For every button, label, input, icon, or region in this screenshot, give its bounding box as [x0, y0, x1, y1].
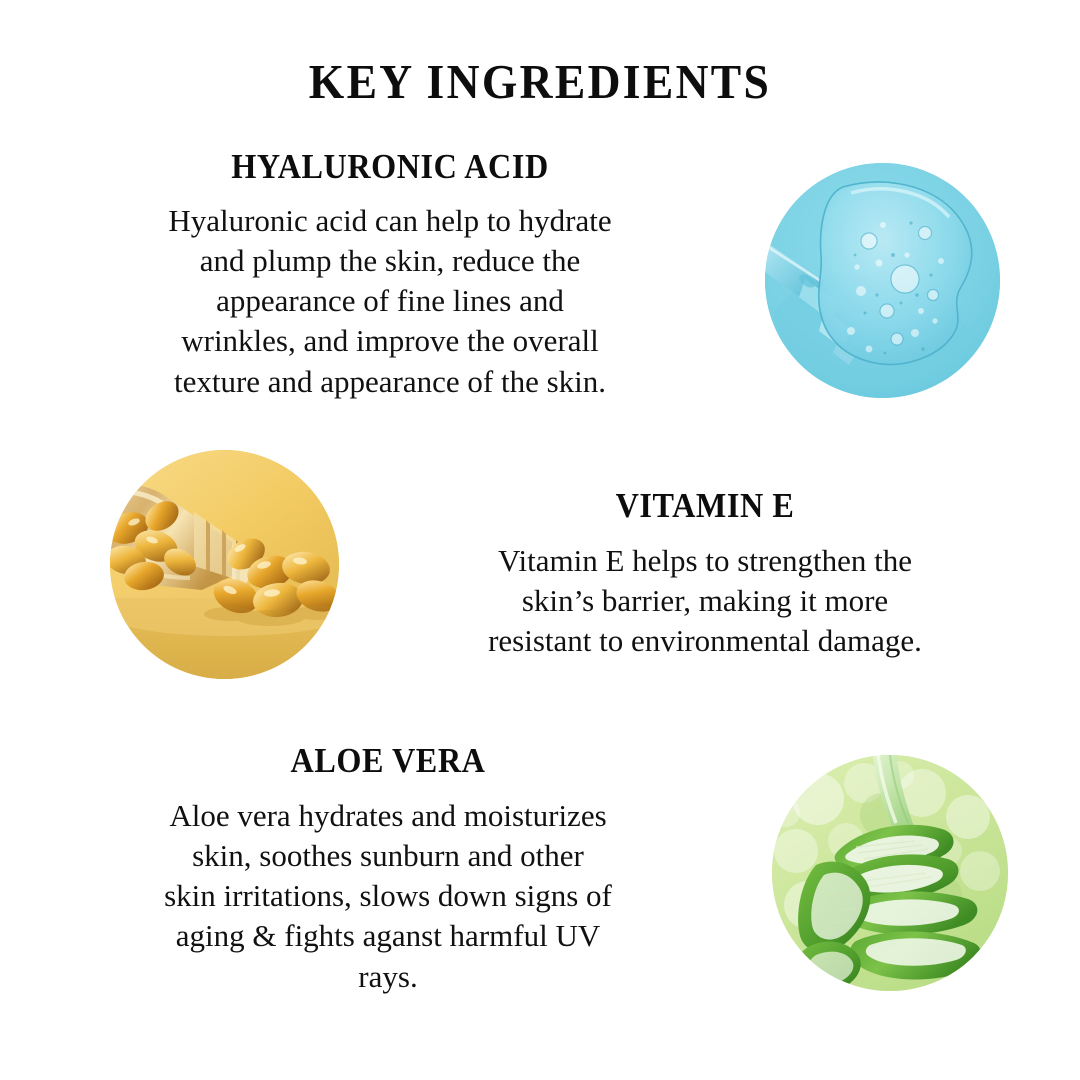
- ingredient-section-aloe-vera: ALOE VERA Aloe vera hydrates and moistur…: [58, 742, 718, 997]
- key-ingredients-infographic: KEY INGREDIENTS HYALURONIC ACID Hyaluron…: [0, 0, 1080, 1080]
- ingredient-section-vitamin-e: VITAMIN E Vitamin E helps to strengthen …: [390, 487, 1020, 661]
- ingredient-description-aloe-vera: Aloe vera hydrates and moisturizes skin,…: [58, 796, 718, 997]
- ingredient-description-hyaluronic-acid: Hyaluronic acid can help to hydrate and …: [60, 201, 720, 402]
- vitamin-e-capsules-photo: [110, 450, 339, 679]
- hyaluronic-acid-gel-photo: [765, 163, 1000, 398]
- ingredient-section-hyaluronic-acid: HYALURONIC ACID Hyaluronic acid can help…: [60, 148, 720, 402]
- page-title: KEY INGREDIENTS: [38, 56, 1042, 107]
- ingredient-heading-hyaluronic-acid: HYALURONIC ACID: [86, 148, 693, 187]
- aloe-vera-slices-photo: [772, 755, 1008, 991]
- ingredient-heading-vitamin-e: VITAMIN E: [415, 487, 995, 526]
- ingredient-description-vitamin-e: Vitamin E helps to strengthen the skin’s…: [390, 541, 1020, 662]
- ingredient-heading-aloe-vera: ALOE VERA: [84, 742, 691, 781]
